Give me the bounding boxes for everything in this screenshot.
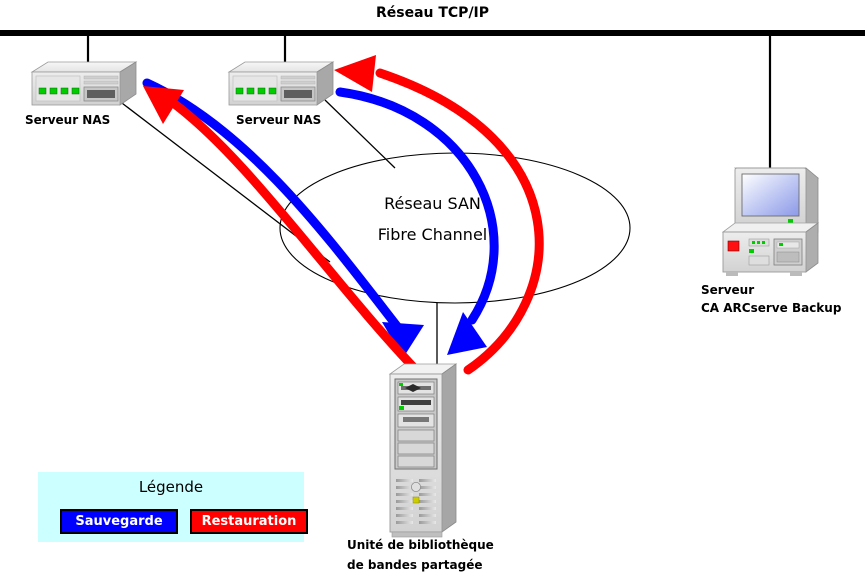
- tape-slot-6: [398, 456, 434, 467]
- tape-slot-5: [398, 443, 434, 454]
- san-cloud-label-line2: Fibre Channel: [0, 225, 865, 244]
- backup-server-label-line1: Serveur: [701, 283, 754, 297]
- diagram-canvas: Réseau TCP/IP Réseau SAN Fibre Channel S…: [0, 0, 865, 577]
- legend-item-sauvegarde-label: Sauvegarde: [75, 514, 162, 529]
- node-tape-library[interactable]: [390, 364, 456, 537]
- library-eject-button: [411, 482, 420, 491]
- legend-panel: Légende Sauvegarde Restauration: [38, 472, 304, 542]
- nas1-led-2: [50, 88, 57, 94]
- legend-item-restauration[interactable]: Restauration: [190, 509, 308, 534]
- legend-title: Légende: [38, 478, 304, 496]
- nas1-led-4: [72, 88, 79, 94]
- nas2-led-1: [236, 88, 243, 94]
- nas1-led-3: [61, 88, 68, 94]
- nas1-led-1: [39, 88, 46, 94]
- legend-item-sauvegarde[interactable]: Sauvegarde: [60, 509, 178, 534]
- nas2-led-4: [269, 88, 276, 94]
- tape-library-label-line2: de bandes partagée: [347, 558, 483, 572]
- page-title: Réseau TCP/IP: [0, 5, 865, 21]
- monitor-power-led: [788, 219, 793, 223]
- nas-1-label: Serveur NAS: [25, 113, 110, 127]
- fibre-link-nas2: [325, 100, 395, 168]
- tape-library-label-line1: Unité de bibliothèque: [347, 538, 494, 552]
- node-nas-1[interactable]: [32, 62, 136, 105]
- legend-item-restauration-label: Restauration: [202, 514, 297, 529]
- nas2-led-3: [258, 88, 265, 94]
- backup-server-label-line2: CA ARCserve Backup: [701, 301, 841, 315]
- library-status-led: [413, 497, 419, 503]
- node-nas-2[interactable]: [229, 62, 333, 105]
- nas2-led-2: [247, 88, 254, 94]
- san-cloud-label-line1: Réseau SAN: [0, 194, 865, 213]
- tape-slot-4: [398, 430, 434, 441]
- node-backup-server[interactable]: [723, 168, 818, 276]
- nas-2-label: Serveur NAS: [236, 113, 321, 127]
